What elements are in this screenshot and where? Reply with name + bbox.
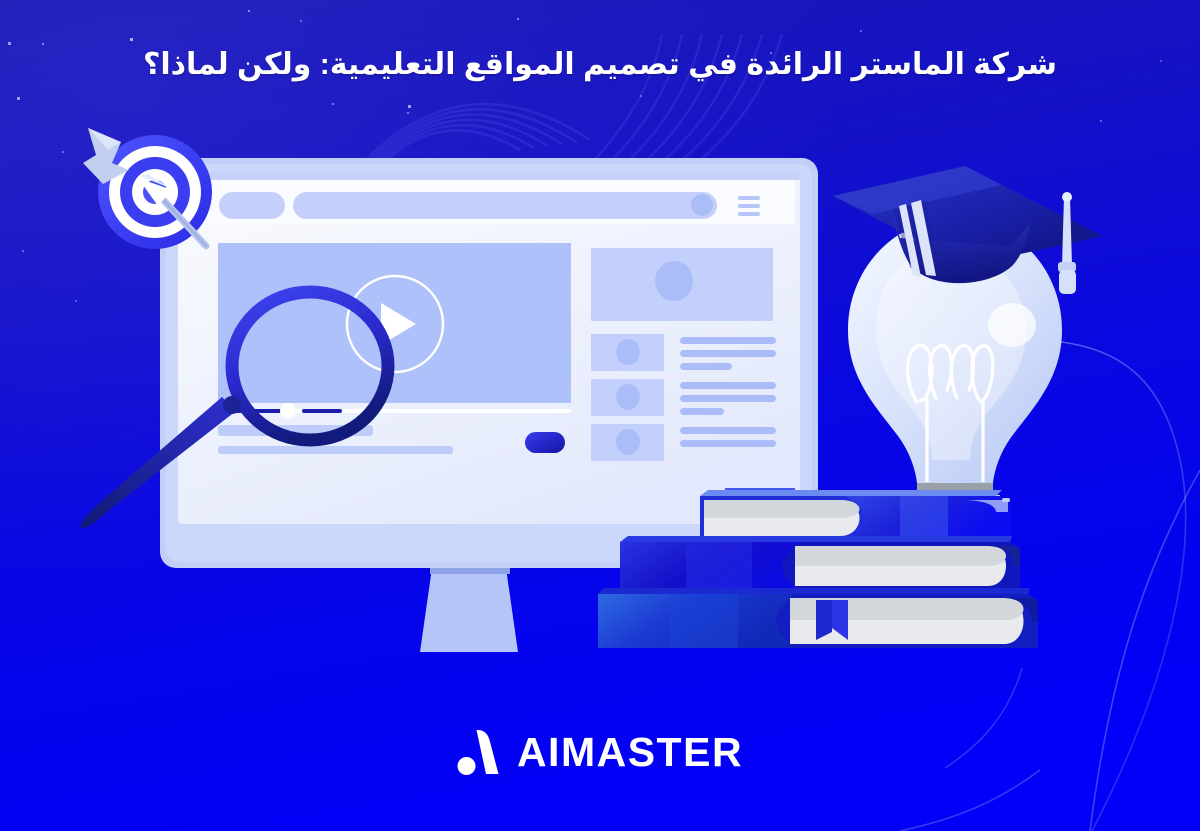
playlist-avatar [616,429,640,455]
page-title: شركة الماستر الرائدة في تصميم المواقع ال… [0,46,1200,84]
book-middle [620,536,1020,590]
book-top [700,490,1010,539]
aimaster-logo-mark-icon [457,728,503,776]
brand-name: AIMASTER [517,732,743,773]
hero-illustration [0,0,1200,831]
book-bottom [598,588,1038,648]
site-logo-placeholder [219,192,285,219]
hamburger-menu-icon [738,196,760,216]
playlist-avatar [616,384,640,410]
illustration-shapes [0,0,1200,831]
video-progress-knob [280,403,296,419]
video-subtitle-placeholder [218,446,453,454]
featured-avatar [655,261,693,301]
search-avatar-placeholder [691,194,713,216]
search-bar-placeholder [293,192,717,219]
playlist-avatar [616,339,640,365]
brand-logo[interactable]: AIMASTER [0,728,1200,776]
banner-canvas: شركة الماستر الرائدة في تصميم المواقع ال… [0,0,1200,831]
subscribe-button [525,432,565,453]
target-dartboard-icon [83,128,212,249]
